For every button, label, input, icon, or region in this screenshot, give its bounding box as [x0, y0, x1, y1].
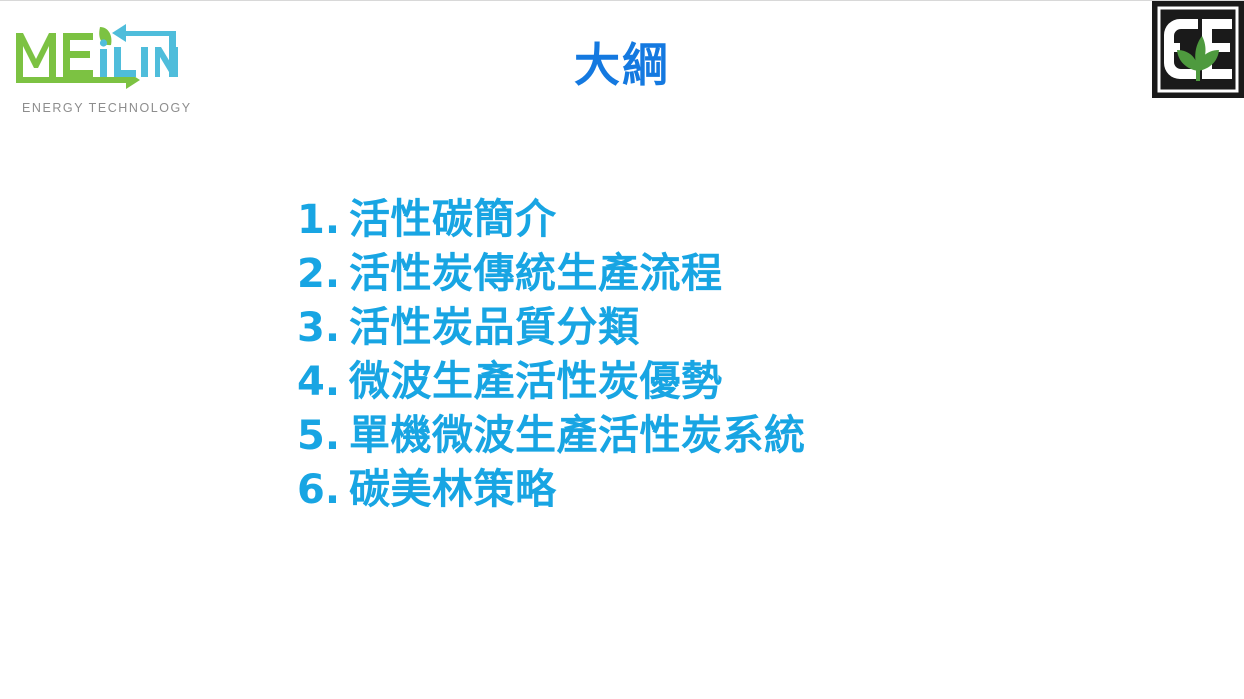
- list-item-number: 5.: [297, 409, 349, 463]
- brand-tagline: ENERGY TECHNOLOGY: [22, 101, 192, 115]
- list-item[interactable]: 5. 單機微波生產活性炭系統: [297, 408, 806, 462]
- list-item[interactable]: 3. 活性炭品質分類: [297, 300, 806, 354]
- list-item-label: 單機微波生產活性炭系統: [349, 408, 806, 462]
- presentation-slide: ENERGY TECHNOLOGY 大綱 1. 活性碳簡介 2. 活性炭傳統生產…: [0, 0, 1244, 699]
- list-item-number: 1.: [297, 193, 349, 247]
- outline-list: 1. 活性碳簡介 2. 活性炭傳統生產流程 3. 活性炭品質分類 4. 微波生產…: [297, 192, 806, 516]
- list-item[interactable]: 1. 活性碳簡介: [297, 192, 806, 246]
- list-item-label: 活性炭品質分類: [349, 300, 640, 354]
- list-item-number: 4.: [297, 355, 349, 409]
- list-item[interactable]: 2. 活性炭傳統生產流程: [297, 246, 806, 300]
- list-item-label: 活性炭傳統生產流程: [349, 246, 723, 300]
- page-title: 大綱: [0, 42, 1244, 88]
- list-item-number: 2.: [297, 247, 349, 301]
- list-item[interactable]: 4. 微波生產活性炭優勢: [297, 354, 806, 408]
- list-item-label: 微波生產活性炭優勢: [349, 354, 723, 408]
- list-item-number: 3.: [297, 301, 349, 355]
- list-item[interactable]: 6. 碳美林策略: [297, 462, 806, 516]
- list-item-number: 6.: [297, 463, 349, 517]
- list-item-label: 活性碳簡介: [349, 192, 557, 246]
- list-item-label: 碳美林策略: [349, 462, 557, 516]
